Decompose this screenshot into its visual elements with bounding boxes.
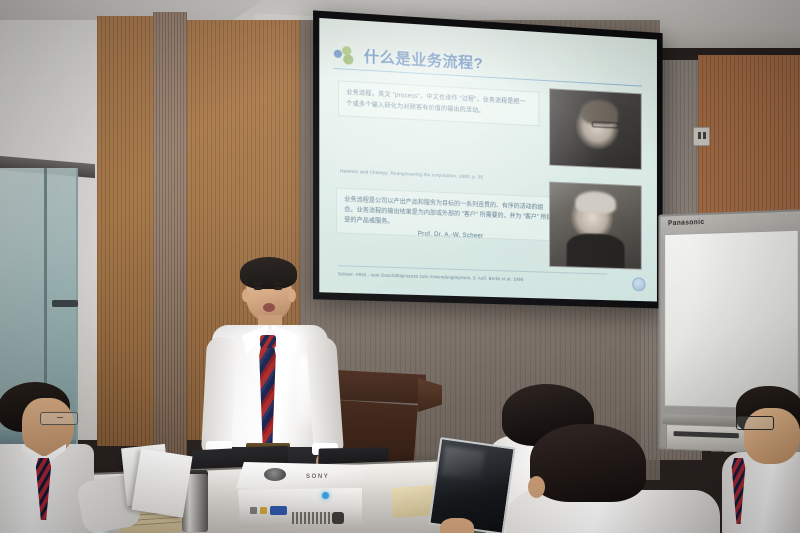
attendee-right-glasses-icon [736, 416, 774, 430]
laptop-held-right[interactable] [428, 437, 516, 533]
presenter-mouth-speaking [263, 303, 275, 312]
slide-title: 什么是业务流程? [364, 45, 483, 73]
projector-vga-port[interactable] [270, 506, 287, 515]
projector-vent-grill [292, 512, 332, 524]
slide-citation-primary: Hammer and Champy: Reengineering the cor… [340, 168, 556, 182]
slide-logo-badge [632, 277, 645, 291]
projector-lens [264, 468, 286, 481]
projector-power-led [322, 492, 329, 499]
attendee-foreground-ear [528, 476, 545, 498]
whiteboard-brand-label: Panasonic [668, 219, 705, 227]
slide-quote-secondary: 业务流程是公司以产出产品和服务为目标的一系列连贯的、有序的活动的组合。业务流程的… [344, 195, 553, 234]
slide-quote-primary-box: 业务流程，英文 "process"，中文也译作 "过程"，业务流程是把一个或多个… [338, 80, 539, 126]
presenter-arm-left [201, 336, 237, 455]
presenter-tie-knot [260, 335, 276, 348]
portrait-michael-hammer [549, 88, 642, 170]
presenter-eye-left [254, 287, 262, 290]
three-dots-cluster-icon [334, 45, 357, 65]
paper-document-front[interactable] [131, 448, 192, 517]
portrait-aw-scheer [549, 181, 642, 269]
presentation-slide: 什么是业务流程? 业务流程，英文 "process"，中文也译作 "过程"，业务… [319, 18, 657, 302]
whiteboard-surface[interactable] [664, 230, 799, 410]
power-outlet-icon [693, 127, 710, 146]
slide-quote-primary: 业务流程，英文 "process"，中文也译作 "过程"，业务流程是把一个或多个… [346, 88, 531, 119]
glass-door-handle[interactable] [52, 300, 78, 307]
projector-brand-label: SONY [306, 474, 329, 480]
attendee-left-face [22, 398, 74, 456]
projector-knob[interactable] [332, 512, 344, 524]
slide-attribution-secondary: Prof. Dr. A.-W. Scheer [418, 231, 484, 239]
sony-projector[interactable]: SONY [236, 462, 368, 530]
presentation-room-photo: 什么是业务流程? 业务流程，英文 "process"，中文也译作 "过程"，业务… [0, 0, 800, 533]
presenter-ear-left [242, 289, 250, 302]
presenter-ear-right [288, 289, 296, 302]
attendee-foreground-hair [530, 424, 646, 502]
projector-port-b[interactable] [260, 507, 267, 514]
projector-top [236, 462, 368, 492]
presenter-eyebrow-left [253, 282, 263, 285]
slide-footer-citation: Scheer: ARIS - vom Geschäftsprozess zum … [338, 265, 607, 284]
attendee-hand-holding-laptop [440, 518, 474, 533]
presenter-eye-right [274, 287, 282, 290]
projector-port-a[interactable] [250, 507, 257, 514]
projection-screen: 什么是业务流程? 业务流程，英文 "process"，中文也译作 "过程"，业务… [313, 10, 663, 308]
lectern-side [418, 378, 442, 412]
attendee-left-glasses-icon [40, 412, 78, 425]
presenter-eyebrow-right [273, 282, 283, 285]
attendee-foreground [520, 424, 710, 533]
presenter-hair [240, 257, 297, 289]
laptop-screen-glare [441, 446, 485, 481]
